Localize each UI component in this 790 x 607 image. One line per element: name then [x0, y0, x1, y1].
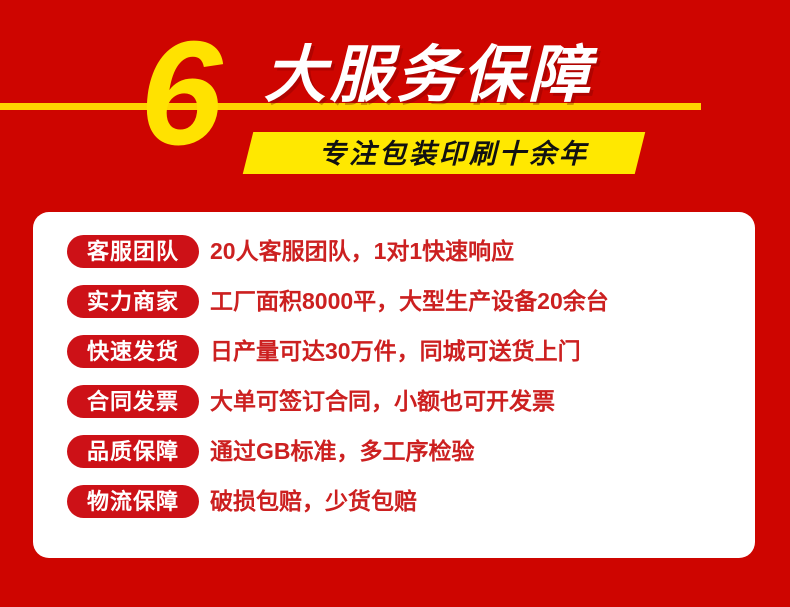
feature-badge: 品质保障 — [67, 435, 199, 468]
headline-number: 6 — [140, 20, 218, 168]
subtitle-label: 专注包装印刷十余年 — [268, 137, 640, 171]
banner-header: 6 大服务保障 专注包装印刷十余年 — [0, 0, 790, 205]
feature-badge: 合同发票 — [67, 385, 199, 418]
feature-text: 大单可签订合同，小额也可开发票 — [210, 387, 555, 415]
list-item: 客服团队 20人客服团队，1对1快速响应 — [33, 226, 755, 276]
feature-text: 日产量可达30万件，同城可送货上门 — [210, 337, 581, 365]
feature-badge: 快速发货 — [67, 335, 199, 368]
feature-list: 客服团队 20人客服团队，1对1快速响应 实力商家 工厂面积8000平，大型生产… — [33, 212, 755, 526]
list-item: 品质保障 通过GB标准，多工序检验 — [33, 426, 755, 476]
page-title: 大服务保障 — [264, 42, 594, 110]
feature-text: 20人客服团队，1对1快速响应 — [210, 237, 514, 265]
feature-text: 通过GB标准，多工序检验 — [210, 437, 475, 465]
feature-badge: 实力商家 — [67, 285, 199, 318]
feature-badge: 物流保障 — [67, 485, 199, 518]
feature-text: 破损包赔，少货包赔 — [210, 487, 417, 515]
feature-badge: 客服团队 — [67, 235, 199, 268]
list-item: 实力商家 工厂面积8000平，大型生产设备20余台 — [33, 276, 755, 326]
feature-text: 工厂面积8000平，大型生产设备20余台 — [210, 287, 609, 315]
list-item: 物流保障 破损包赔，少货包赔 — [33, 476, 755, 526]
feature-card: 客服团队 20人客服团队，1对1快速响应 实力商家 工厂面积8000平，大型生产… — [33, 212, 755, 558]
list-item: 合同发票 大单可签订合同，小额也可开发票 — [33, 376, 755, 426]
list-item: 快速发货 日产量可达30万件，同城可送货上门 — [33, 326, 755, 376]
promo-banner: 6 大服务保障 专注包装印刷十余年 客服团队 20人客服团队，1对1快速响应 实… — [0, 0, 790, 607]
